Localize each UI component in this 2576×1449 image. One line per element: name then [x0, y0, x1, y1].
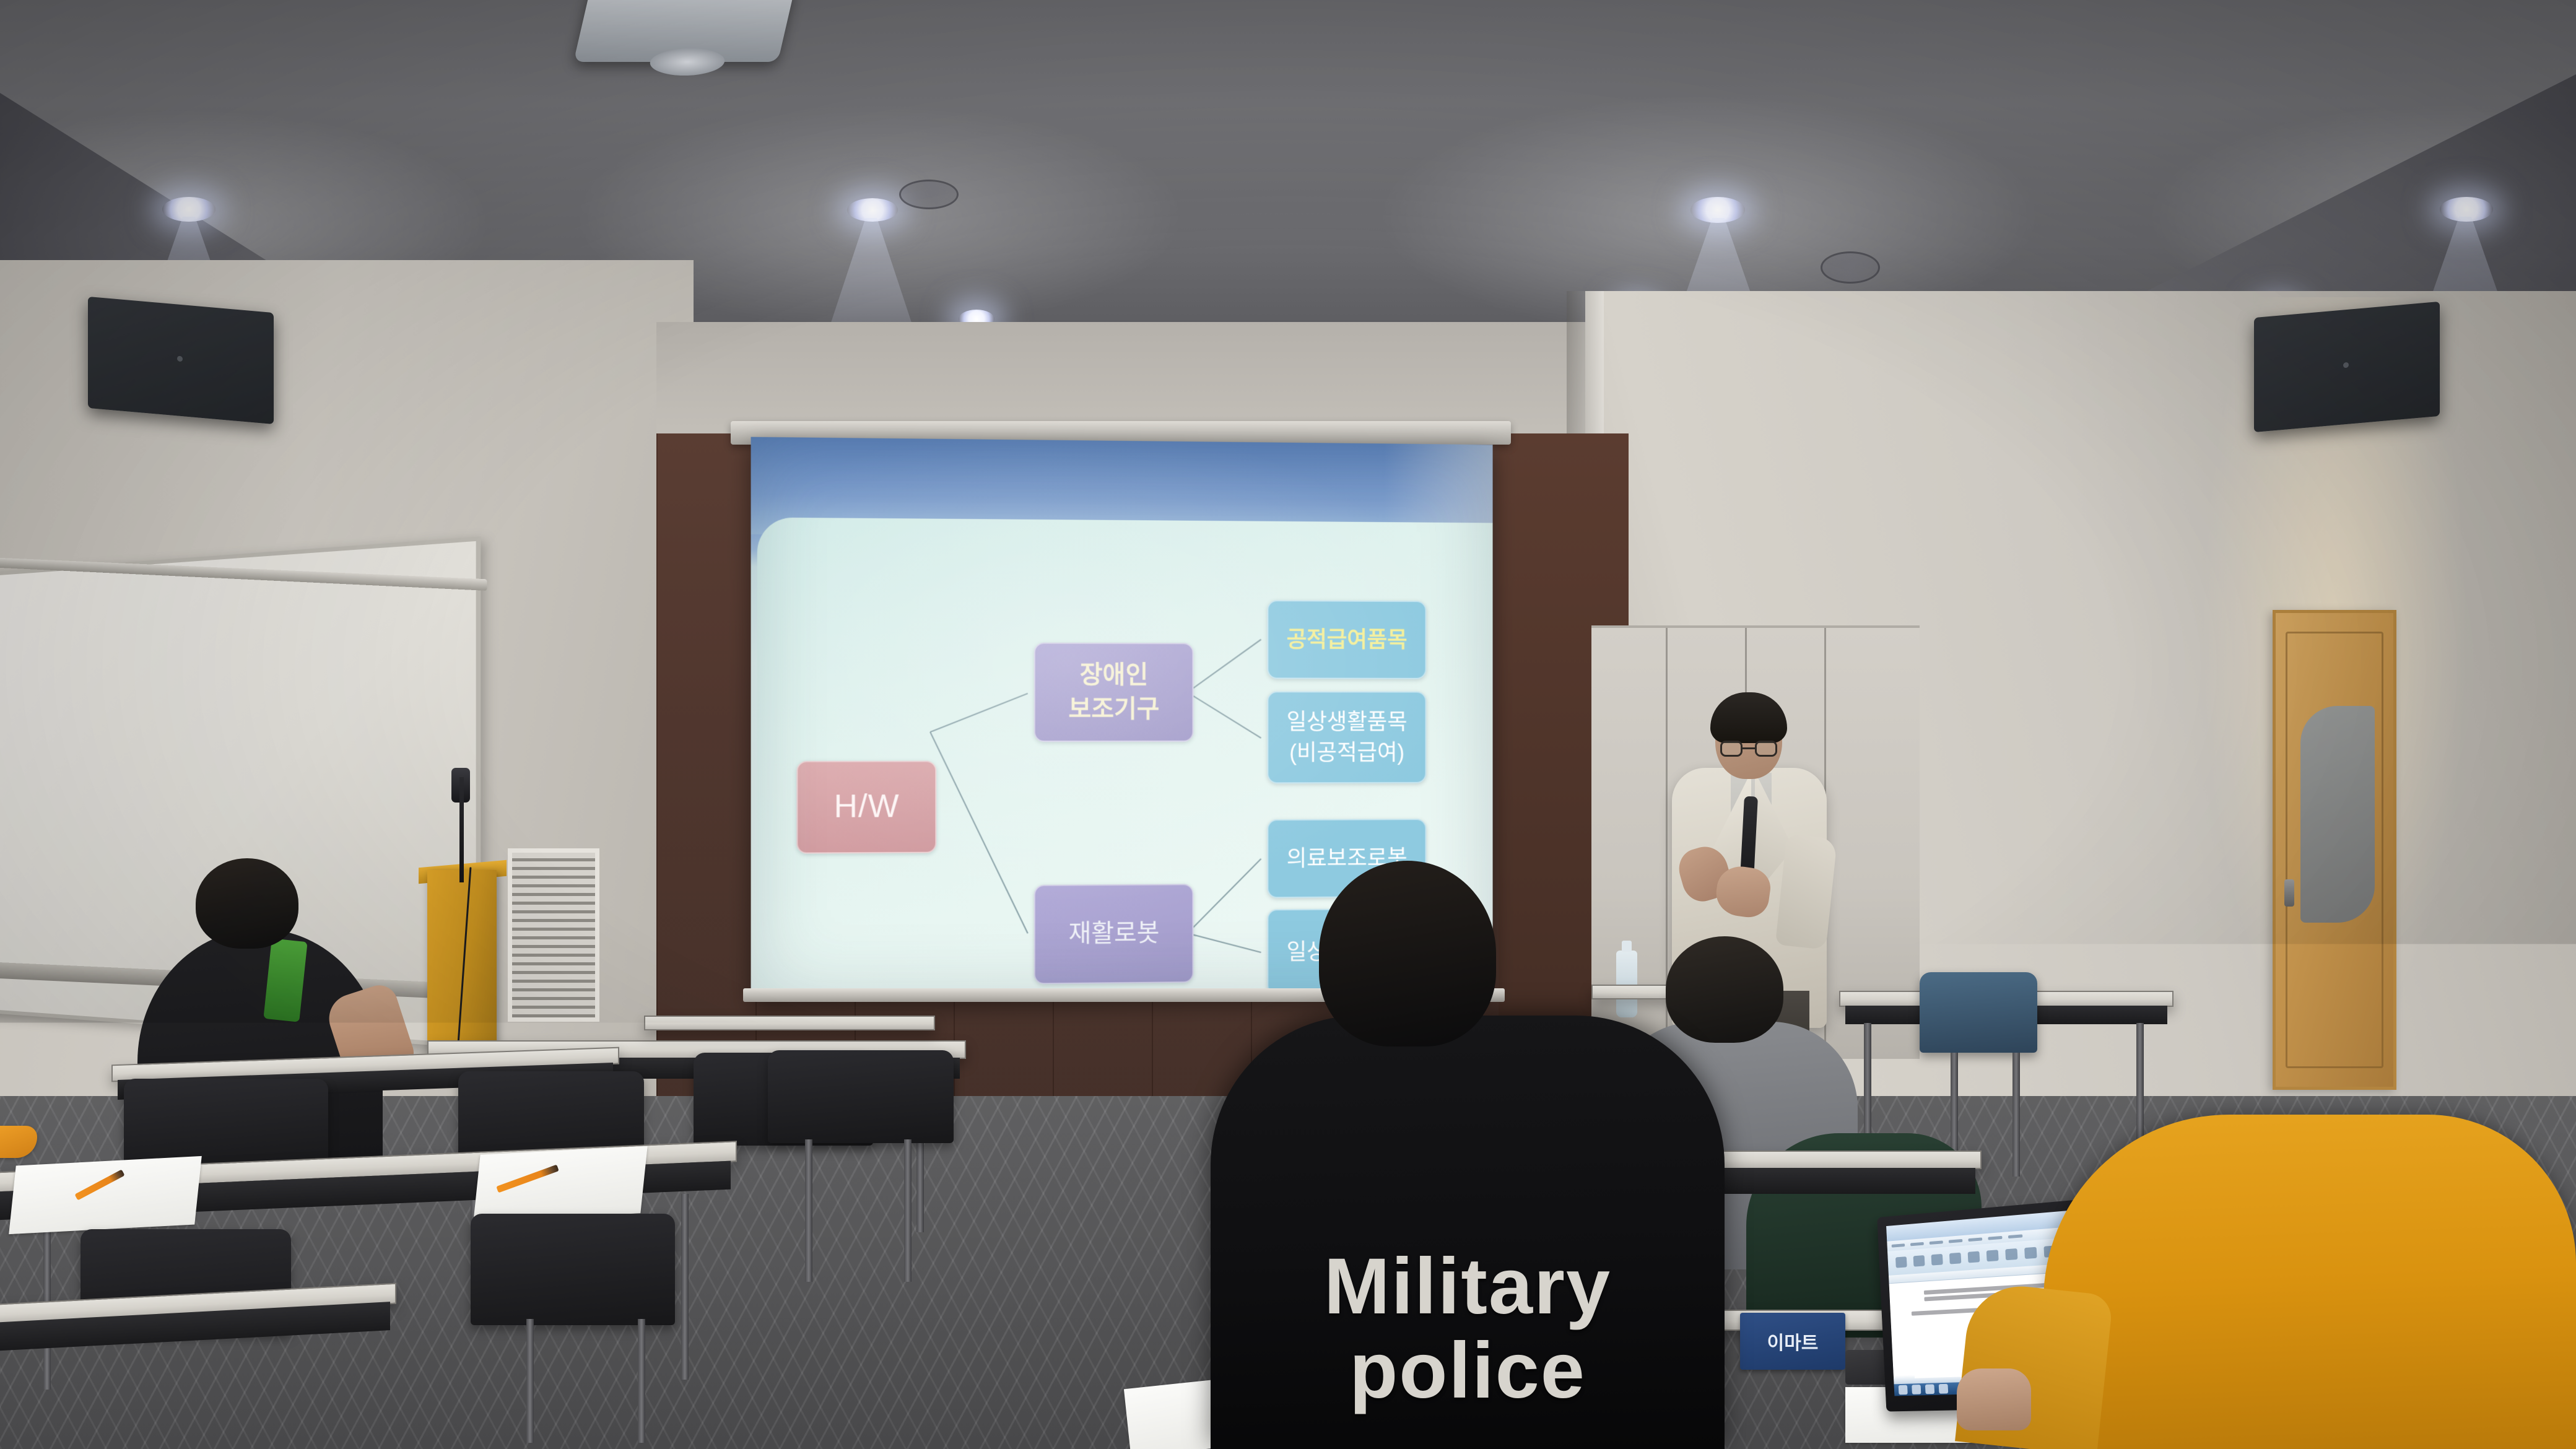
paper-sheet	[473, 1146, 647, 1222]
wall-speaker-icon	[2254, 302, 2440, 432]
chair-leg	[904, 1139, 912, 1282]
jacket-text-line2: police	[1232, 1329, 1703, 1413]
downlight	[2440, 197, 2493, 222]
diagram-node-root: H/W	[796, 760, 936, 853]
glasses-icon	[1720, 741, 1777, 757]
downlight	[162, 197, 215, 222]
attendee-head	[196, 858, 298, 949]
door-handle-icon[interactable]	[2284, 879, 2294, 907]
node-label: H/W	[834, 785, 900, 830]
water-bottle[interactable]	[1616, 951, 1637, 1017]
chair[interactable]	[768, 1050, 954, 1143]
recessed-fixture	[1821, 251, 1880, 284]
diagram-node-branch-2: 재활로봇	[1034, 884, 1194, 984]
downlight	[847, 198, 898, 222]
snack-box-label: 이마트	[1767, 1328, 1819, 1355]
wall-speaker-icon	[88, 297, 274, 424]
node-label-line1: 일상생활품목	[1287, 707, 1408, 737]
jacket-text: Military police	[1232, 1245, 1703, 1412]
paper-sheet	[9, 1156, 202, 1234]
attendee-head	[1319, 861, 1496, 1046]
attendee-head	[1666, 936, 1783, 1043]
table	[644, 1016, 935, 1030]
diagram-node-leaf-2: 일상생활품목 (비공적급여)	[1267, 691, 1426, 783]
node-label-line1: 장애인	[1080, 658, 1148, 692]
downlight	[1690, 197, 1745, 223]
chair-leg	[638, 1319, 645, 1443]
door-glass-panel	[2300, 706, 2375, 923]
chair[interactable]	[124, 1079, 328, 1172]
chair[interactable]	[1920, 972, 2037, 1053]
chair-leg	[805, 1139, 812, 1282]
diagram-node-branch-1: 장애인 보조기구	[1034, 643, 1194, 742]
node-label-line1: 재활로봇	[1068, 916, 1159, 951]
wall-vent-grille-icon	[508, 848, 599, 1022]
jacket-text-line1: Military	[1232, 1245, 1703, 1329]
attendee-hand	[1957, 1368, 2031, 1430]
chair-leg	[2012, 1053, 2020, 1177]
node-label-line1: 공적급여품목	[1287, 624, 1408, 655]
lecture-room-photo: H/W 장애인 보조기구 재활로봇 공적급여품목 일상생활품목 (비공적급여)	[0, 0, 2576, 1449]
diagram-node-leaf-1: 공적급여품목	[1267, 600, 1426, 679]
podium	[427, 870, 497, 1050]
microphone-stand	[459, 777, 464, 882]
attendee-shirt	[2043, 1115, 2576, 1449]
table-leg	[681, 1194, 689, 1380]
recessed-fixture	[899, 180, 959, 209]
snack-box[interactable]: 이마트	[1740, 1313, 1845, 1370]
node-label-line2: (비공적급여)	[1289, 738, 1404, 768]
chair-leg	[526, 1319, 534, 1443]
chair[interactable]	[471, 1214, 675, 1325]
node-label-line2: 보조기구	[1068, 692, 1159, 726]
